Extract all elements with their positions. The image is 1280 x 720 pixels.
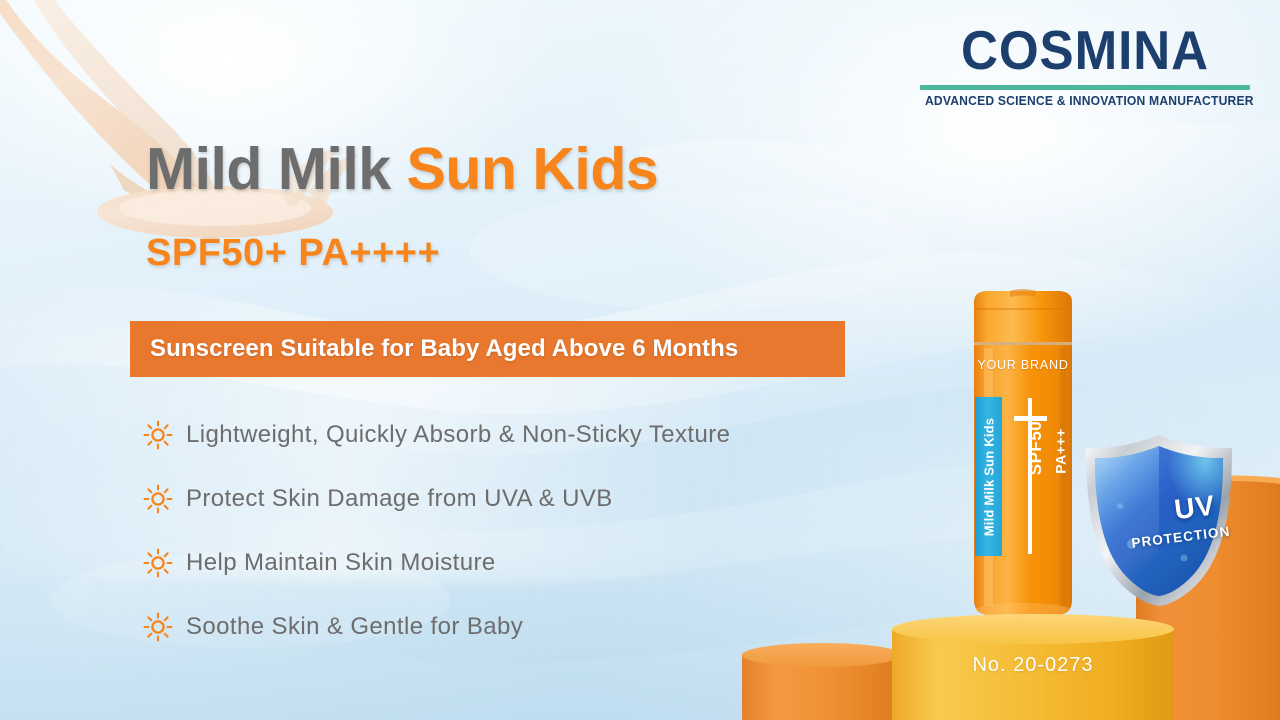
sun-icon (130, 484, 186, 514)
feature-text: Protect Skin Damage from UVA & UVB (186, 485, 613, 513)
product-number: No. 20-0273 (888, 654, 1178, 677)
title-part-orange: Sun Kids (407, 136, 659, 202)
milk-splash-illustration (0, 0, 510, 246)
feature-text: Lightweight, Quickly Absorb & Non-Sticky… (186, 421, 730, 449)
page-subtitle: SPF50+ PA++++ (146, 232, 440, 275)
uv-protection-shield (1080, 432, 1238, 608)
title-part-gray: Mild Milk (146, 136, 407, 202)
page-title: Mild Milk Sun Kids (146, 135, 658, 203)
product-banner: COSMINA ADVANCED SCIENCE & INNOVATION MA… (0, 0, 1280, 720)
list-item: Help Maintain Skin Moisture (130, 531, 910, 595)
sun-icon (130, 548, 186, 578)
list-item: Protect Skin Damage from UVA & UVB (130, 467, 910, 531)
sun-icon (130, 420, 186, 450)
feature-text: Soothe Skin & Gentle for Baby (186, 613, 523, 641)
brand-tagline: ADVANCED SCIENCE & INNOVATION MANUFACTUR… (925, 94, 1245, 108)
product-bottle (962, 288, 1084, 618)
feature-list: Lightweight, Quickly Absorb & Non-Sticky… (130, 403, 910, 659)
feature-text: Help Maintain Skin Moisture (186, 549, 496, 577)
suitability-banner: Sunscreen Suitable for Baby Aged Above 6… (130, 321, 845, 377)
brand-name: COSMINA (932, 24, 1239, 78)
brand-divider (920, 85, 1250, 90)
sun-icon (130, 612, 186, 642)
list-item: Lightweight, Quickly Absorb & Non-Sticky… (130, 403, 910, 467)
suitability-banner-text: Sunscreen Suitable for Baby Aged Above 6… (130, 335, 738, 363)
brand-logo: COSMINA ADVANCED SCIENCE & INNOVATION MA… (920, 24, 1250, 108)
podium-left (738, 641, 906, 720)
